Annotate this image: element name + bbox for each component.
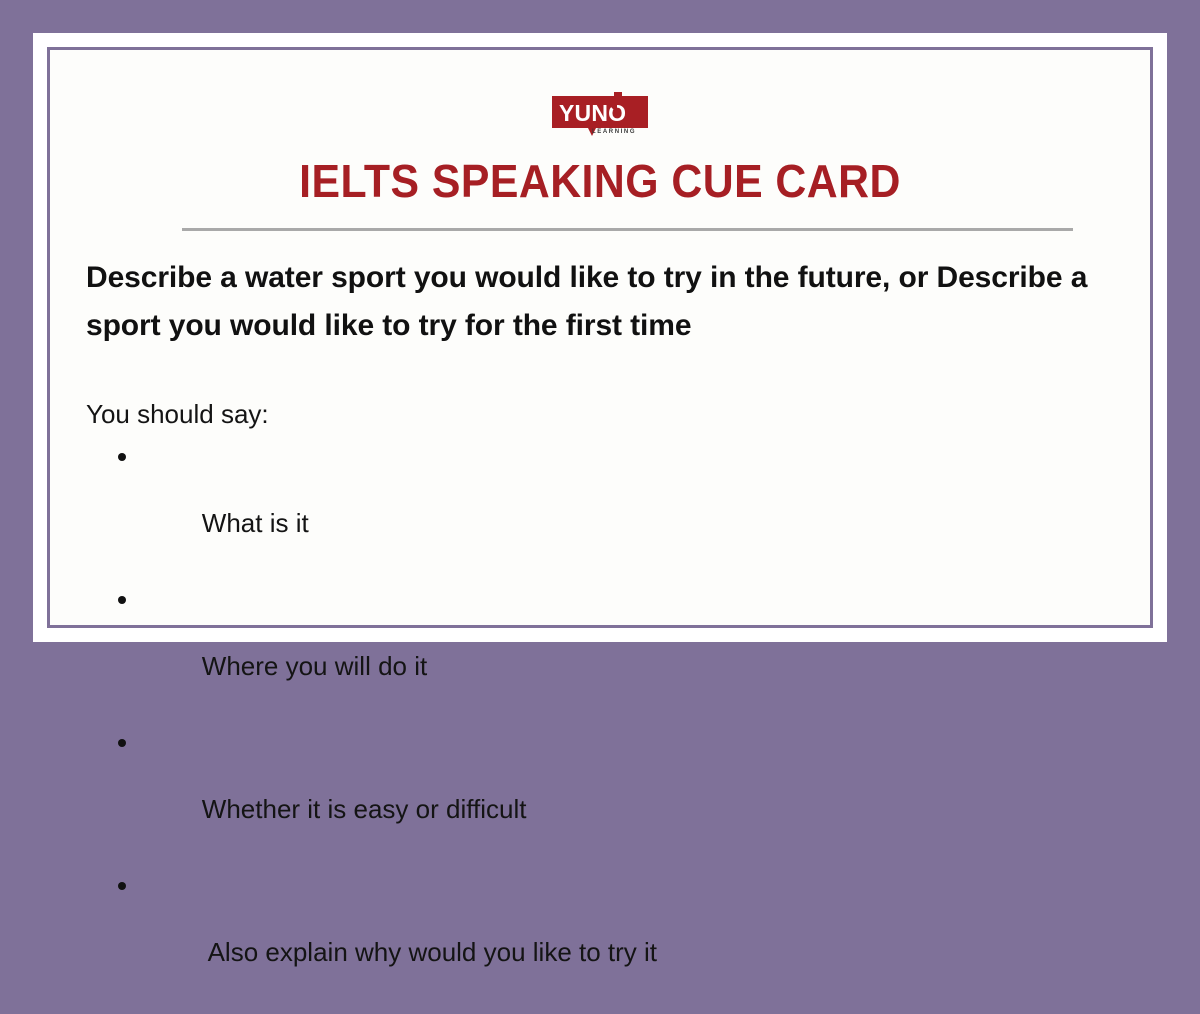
list-item-label: Where you will do it	[202, 651, 427, 681]
brand-logo: YUNO LEARNING	[50, 92, 1150, 138]
page-title: IELTS SPEAKING CUE CARD	[89, 158, 1112, 204]
card-content: YUNO LEARNING IELTS SPEAKING CUE CARD De…	[50, 50, 1150, 625]
bullet-icon	[118, 882, 126, 890]
list-item: Where you will do it	[86, 585, 1106, 715]
bullet-icon	[118, 596, 126, 604]
list-item: Whether it is easy or difficult	[86, 728, 1106, 858]
bullet-icon	[118, 739, 126, 747]
list-item-label: Also explain why would you like to try i…	[202, 937, 657, 967]
list-item: What is it	[86, 442, 1106, 572]
cue-card-slide: YUNO LEARNING IELTS SPEAKING CUE CARD De…	[0, 0, 1200, 675]
cue-card-prompt: Describe a water sport you would like to…	[86, 254, 1136, 350]
list-item: Also explain why would you like to try i…	[86, 871, 1106, 1001]
list-item-label: What is it	[202, 508, 309, 538]
instruction-label: You should say:	[86, 398, 269, 432]
list-item-label: Whether it is easy or difficult	[202, 794, 527, 824]
bullet-icon	[118, 453, 126, 461]
svg-text:LEARNING: LEARNING	[592, 129, 636, 135]
yuno-learning-logo-icon: YUNO LEARNING	[552, 92, 648, 136]
title-divider	[182, 228, 1073, 231]
cue-points-list: What is it Where you will do it Whether …	[86, 442, 1106, 1014]
